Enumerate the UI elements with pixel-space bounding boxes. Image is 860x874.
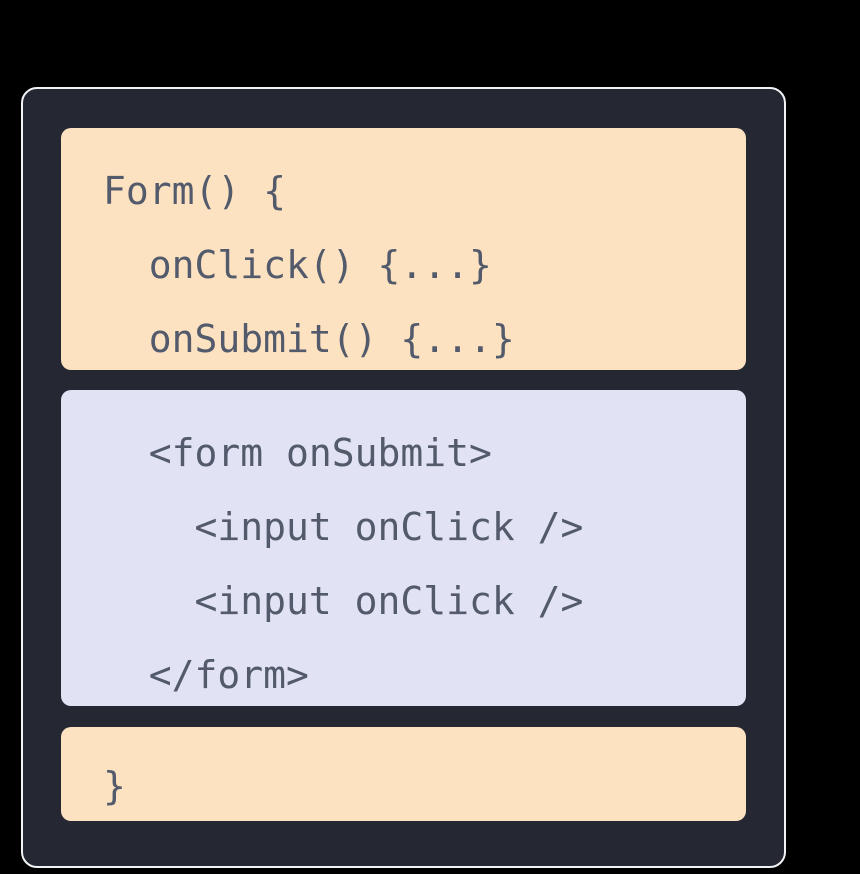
- code-line: </form>: [61, 638, 746, 706]
- code-line: <input onClick />: [61, 490, 746, 564]
- code-card: Form() { onClick() {...} onSubmit() {...…: [21, 87, 786, 868]
- code-line: }: [61, 749, 746, 821]
- code-block-component-head: Form() { onClick() {...} onSubmit() {...…: [61, 128, 746, 370]
- code-block-jsx-markup: <form onSubmit> <input onClick /> <input…: [61, 390, 746, 706]
- code-line: onClick() {...}: [61, 228, 746, 302]
- code-panel-stack: Form() { onClick() {...} onSubmit() {...…: [61, 128, 746, 821]
- code-line: Form() {: [61, 154, 746, 228]
- page-canvas: Form() { onClick() {...} onSubmit() {...…: [0, 0, 860, 874]
- code-line: <form onSubmit>: [61, 416, 746, 490]
- code-block-component-tail: }: [61, 727, 746, 821]
- code-line: onSubmit() {...}: [61, 302, 746, 370]
- code-line: <input onClick />: [61, 564, 746, 638]
